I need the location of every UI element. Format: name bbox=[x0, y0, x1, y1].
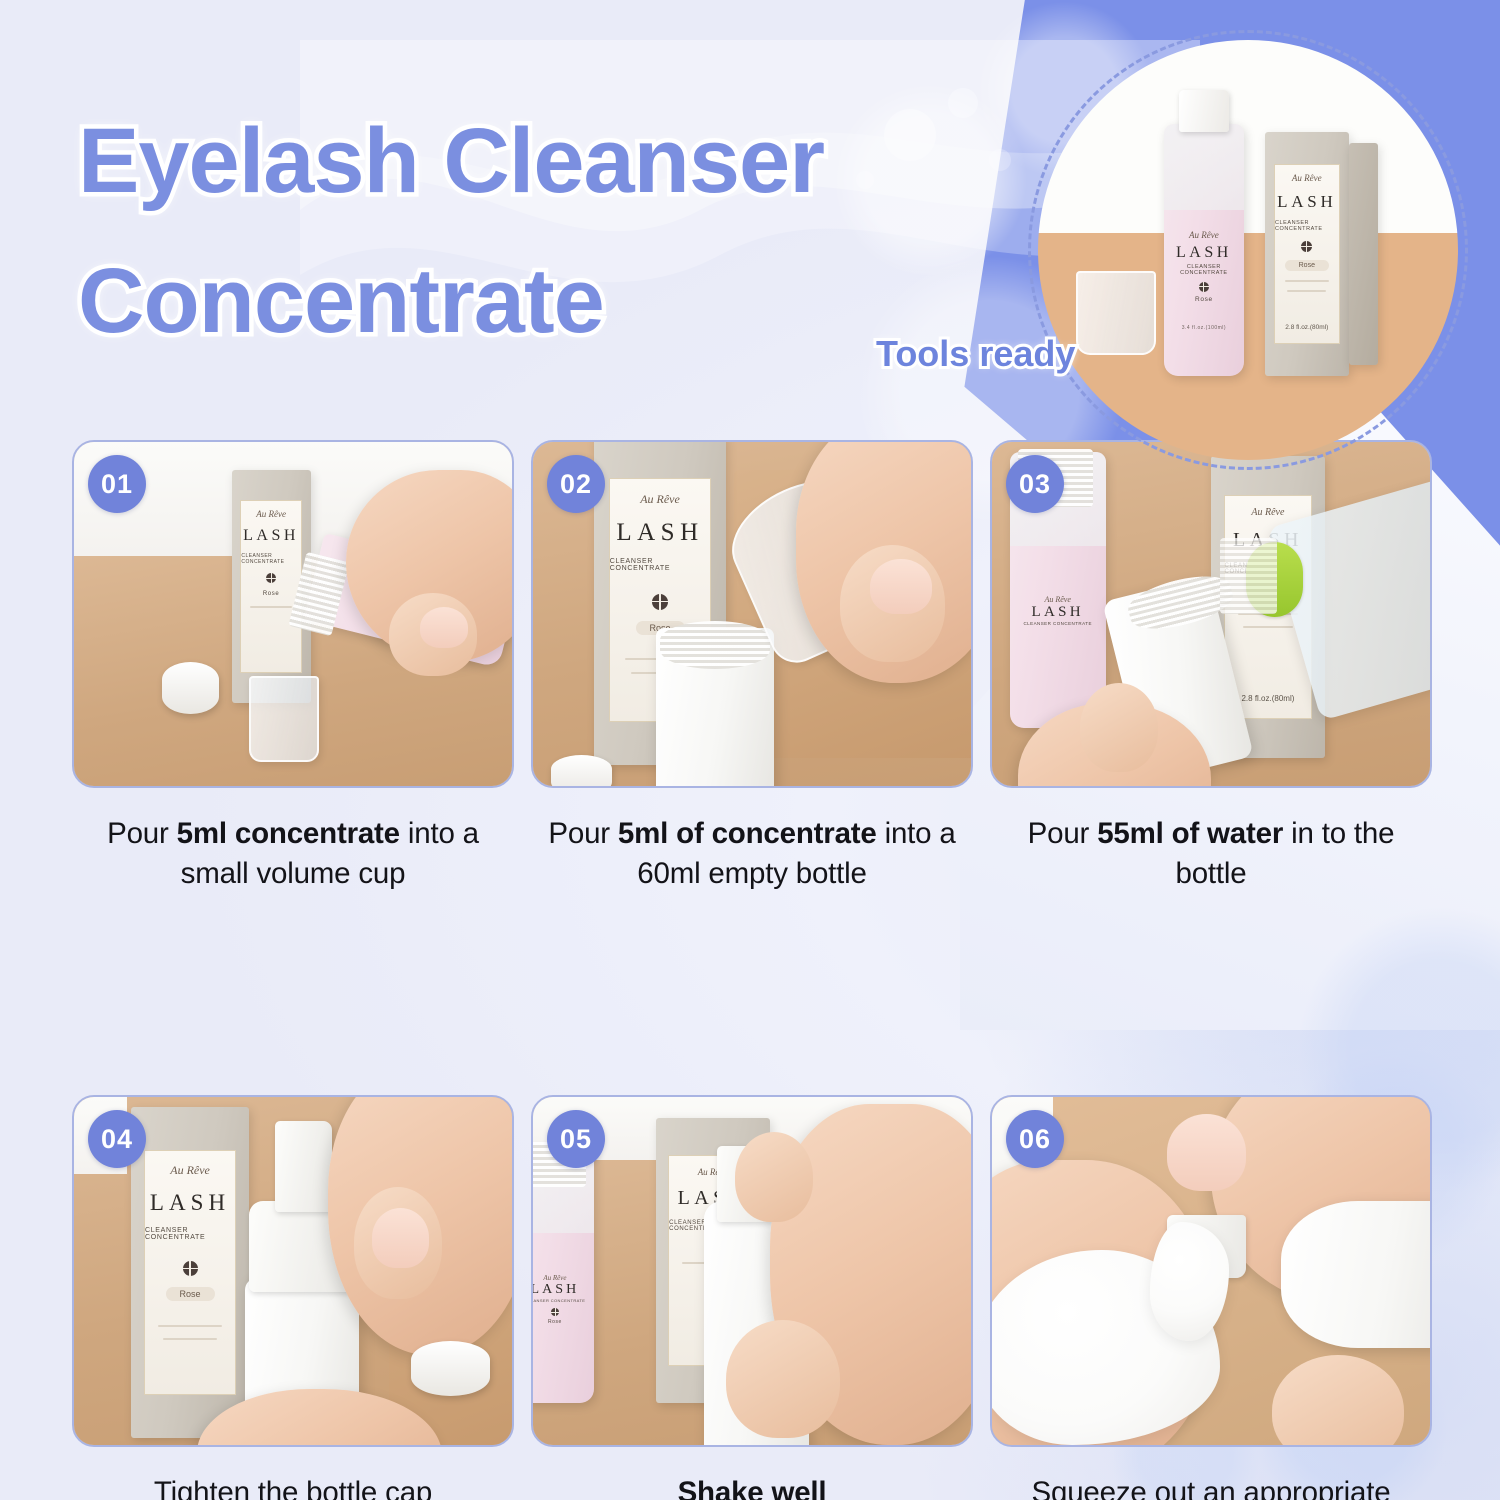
step-badge-01: 01 bbox=[88, 455, 146, 513]
step05-bottle-name: LASH bbox=[531, 1282, 594, 1298]
step01-subtitle: CLEANSER CONCENTRATE bbox=[241, 553, 301, 565]
step-caption-02: Pour 5ml of concentrate into a 60ml empt… bbox=[531, 814, 973, 893]
step01-variant: Rose bbox=[263, 591, 279, 597]
step02-loose-cap bbox=[551, 755, 612, 788]
step01-brand: Au Rêve bbox=[256, 509, 286, 519]
hero-package-volume: 2.8 fl.oz.(80ml) bbox=[1275, 324, 1339, 331]
step03-bottle-brand: Au Rêve bbox=[1010, 595, 1106, 604]
hero-bottle-name: LASH bbox=[1164, 244, 1244, 262]
step05-bottle-emblem-icon bbox=[551, 1308, 559, 1316]
step-cell-05: 05 Au Rêve LASH CLEANSER CONCENTRATE Ros… bbox=[531, 1095, 973, 1500]
step02-name: LASH bbox=[616, 519, 703, 547]
step04-brand: Au Rêve bbox=[170, 1163, 210, 1178]
step02-bottle-neck bbox=[660, 621, 770, 669]
step-caption-03-pre: Pour bbox=[1028, 817, 1098, 850]
step04-variant: Rose bbox=[166, 1287, 215, 1301]
step04-pump-nozzle bbox=[275, 1121, 332, 1211]
hero-product-photo: Au Rêve LASH CLEANSER CONCENTRATE Rose 3… bbox=[1038, 40, 1458, 460]
page-title-line-2: Concentrate bbox=[78, 232, 978, 372]
hero-bottle-cap bbox=[1179, 90, 1229, 132]
step04-name: LASH bbox=[150, 1190, 230, 1216]
step06-foam-bottle bbox=[1281, 1201, 1432, 1347]
infographic-page: Eyelash Cleanser Concentrate Tools ready… bbox=[0, 0, 1500, 1500]
step-badge-02: 02 bbox=[547, 455, 605, 513]
page-title: Eyelash Cleanser Concentrate bbox=[78, 92, 978, 372]
step-card-06: 06 bbox=[990, 1095, 1432, 1447]
step-caption-01: Pour 5ml concentrate into a small volume… bbox=[72, 814, 514, 893]
step02-thumbnail bbox=[870, 559, 931, 614]
page-title-line-1: Eyelash Cleanser bbox=[78, 92, 978, 232]
step01-loose-cap bbox=[162, 662, 219, 714]
step01-measuring-cup bbox=[249, 676, 319, 762]
hero-concentrate-bottle: Au Rêve LASH CLEANSER CONCENTRATE Rose 3… bbox=[1164, 124, 1244, 376]
step03-bottle-name: LASH bbox=[1010, 604, 1106, 621]
step-card-05: 05 Au Rêve LASH CLEANSER CONCENTRATE Ros… bbox=[531, 1095, 973, 1447]
step-caption-04: Tighten the bottle cap bbox=[72, 1473, 514, 1500]
step-caption-03: Pour 55ml of water in to the bottle bbox=[990, 814, 1432, 893]
step-caption-02-bold: 5ml of concentrate bbox=[618, 817, 877, 850]
hero-measuring-cup bbox=[1076, 271, 1156, 355]
bottle-liquid-level bbox=[1164, 124, 1244, 210]
step03-finger bbox=[1080, 683, 1159, 772]
step-caption-05-post: Shake well bbox=[678, 1476, 827, 1500]
step05-finger-2 bbox=[726, 1320, 840, 1438]
step04-fineprint-2 bbox=[163, 1338, 217, 1340]
hero-package-subtitle: CLEANSER CONCENTRATE bbox=[1275, 220, 1339, 232]
step-cell-04: 04 Au Rêve LASH CLEANSER CONCENTRATE Ros… bbox=[72, 1095, 514, 1500]
step04-loose-cap bbox=[411, 1341, 490, 1397]
step05-bottle-subtitle: CLEANSER CONCENTRATE bbox=[531, 1298, 594, 1303]
step02-emblem-icon bbox=[652, 594, 668, 610]
step-badge-05: 05 bbox=[547, 1110, 605, 1168]
step01-package-label: Au Rêve LASH CLEANSER CONCENTRATE Rose bbox=[240, 500, 302, 673]
hero-package-box-side bbox=[1349, 143, 1378, 366]
steps-grid-row-2: 04 Au Rêve LASH CLEANSER CONCENTRATE Ros… bbox=[72, 1095, 1432, 1500]
step-caption-06: Squeeze out an appropriate amount of sha… bbox=[990, 1473, 1432, 1500]
step-card-02: 02 Au Rêve LASH CLEANSER CONCENTRATE Ros… bbox=[531, 440, 973, 788]
step01-fineprint bbox=[250, 606, 292, 608]
step02-subtitle: CLEANSER CONCENTRATE bbox=[610, 558, 711, 572]
step01-name: LASH bbox=[243, 527, 299, 545]
step-caption-03-bold: 55ml of water bbox=[1097, 817, 1283, 850]
step03-water-bottle-neck bbox=[1220, 538, 1277, 614]
step-caption-06-post: Squeeze out an appropriate amount of sha… bbox=[1032, 1476, 1391, 1500]
step03-brand: Au Rêve bbox=[1251, 507, 1284, 518]
step02-brand: Au Rêve bbox=[640, 492, 680, 507]
hero-package-box: Au Rêve LASH CLEANSER CONCENTRATE Rose 2… bbox=[1265, 132, 1349, 376]
step-cell-06: 06 Squeeze out an appropriate amount of … bbox=[990, 1095, 1432, 1500]
step04-subtitle: CLEANSER CONCENTRATE bbox=[145, 1227, 235, 1241]
hero-bottle-subtitle: CLEANSER CONCENTRATE bbox=[1164, 264, 1244, 276]
step05-bottle-variant: Rose bbox=[531, 1319, 594, 1325]
step-caption-01-pre: Pour bbox=[107, 817, 177, 850]
step03-fineprint-2 bbox=[1243, 626, 1293, 628]
hero-package-emblem-icon bbox=[1301, 241, 1312, 252]
step05-bottle-brand: Au Rêve bbox=[531, 1274, 594, 1282]
step-badge-04: 04 bbox=[88, 1110, 146, 1168]
step-badge-03: 03 bbox=[1006, 455, 1064, 513]
step-caption-02-pre: Pour bbox=[548, 817, 618, 850]
hero-package-name: LASH bbox=[1277, 192, 1336, 212]
step04-package-box: Au Rêve LASH CLEANSER CONCENTRATE Rose bbox=[131, 1107, 249, 1438]
hero-package-fineprint-1 bbox=[1285, 280, 1329, 282]
step-card-01: 01 Au Rêve LASH CLEANSER CONCENTRATE Ros… bbox=[72, 440, 514, 788]
step01-thumbnail bbox=[420, 607, 468, 648]
step-cell-01: 01 Au Rêve LASH CLEANSER CONCENTRATE Ros… bbox=[72, 440, 514, 893]
tools-ready-label: Tools ready bbox=[876, 333, 1075, 375]
step05-finger-1 bbox=[735, 1132, 814, 1222]
step04-thumbnail bbox=[372, 1208, 429, 1267]
step-cell-02: 02 Au Rêve LASH CLEANSER CONCENTRATE Ros… bbox=[531, 440, 973, 893]
step04-fineprint-1 bbox=[158, 1325, 221, 1327]
step-caption-04-post: Tighten the bottle cap bbox=[154, 1476, 432, 1500]
hero-package-variant: Rose bbox=[1285, 260, 1329, 271]
hero-bottle-volume: 3.4 fl.oz.(100ml) bbox=[1164, 325, 1244, 331]
step06-thumbnail bbox=[1167, 1114, 1246, 1191]
step-caption-01-bold: 5ml concentrate bbox=[177, 817, 400, 850]
step-caption-05: Shake well bbox=[531, 1473, 973, 1500]
step03-bottle-subtitle: CLEANSER CONCENTRATE bbox=[1010, 621, 1106, 626]
step01-emblem-icon bbox=[266, 573, 276, 583]
step-cell-03: 03 Au Rêve LASH CLEANSER CONCENTRATE 2.8… bbox=[990, 440, 1432, 893]
hero-product-circle: Au Rêve LASH CLEANSER CONCENTRATE Rose 3… bbox=[1028, 30, 1468, 470]
hero-package-fineprint-2 bbox=[1287, 290, 1326, 292]
step-badge-06: 06 bbox=[1006, 1110, 1064, 1168]
step-card-03: 03 Au Rêve LASH CLEANSER CONCENTRATE 2.8… bbox=[990, 440, 1432, 788]
hero-bottle-brand: Au Rêve bbox=[1164, 230, 1244, 240]
hero-package-label: Au Rêve LASH CLEANSER CONCENTRATE Rose 2… bbox=[1274, 164, 1340, 344]
step-card-04: 04 Au Rêve LASH CLEANSER CONCENTRATE Ros… bbox=[72, 1095, 514, 1447]
hero-bottle-emblem-icon bbox=[1199, 282, 1209, 292]
steps-grid-row-1: 01 Au Rêve LASH CLEANSER CONCENTRATE Ros… bbox=[72, 440, 1432, 893]
step04-package-label: Au Rêve LASH CLEANSER CONCENTRATE Rose bbox=[144, 1150, 236, 1395]
hero-bottle-variant: Rose bbox=[1164, 296, 1244, 303]
hero-package-brand: Au Rêve bbox=[1292, 173, 1322, 183]
step04-emblem-icon bbox=[183, 1261, 198, 1276]
